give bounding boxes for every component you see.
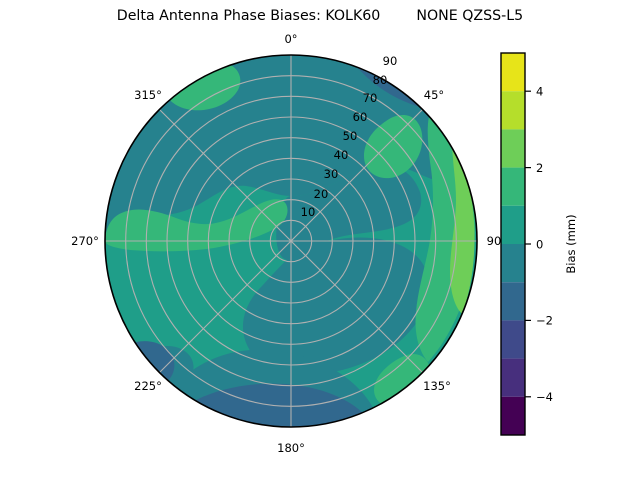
- colorbar-tick-label-2: 2: [536, 161, 543, 175]
- colorbar-tick-label-4: 4: [536, 85, 543, 99]
- radial-label-60: 60: [353, 110, 368, 124]
- colorbar-band-3to4: [501, 91, 525, 129]
- colorbar-band-4to5: [501, 53, 525, 91]
- colorbar-tick-label-neg4: −4: [536, 390, 553, 404]
- polar-plot-canvas: 0° 45° 90 135° 180° 225° 270° 315° 10 20…: [0, 0, 640, 480]
- radial-label-40: 40: [334, 148, 349, 162]
- radial-label-10: 10: [301, 205, 316, 219]
- azimuth-label-315: 315°: [134, 88, 162, 102]
- azimuth-label-180: 180°: [277, 441, 305, 455]
- azimuth-label-45: 45°: [424, 88, 444, 102]
- radial-label-20: 20: [314, 187, 329, 201]
- radial-label-30: 30: [324, 167, 339, 181]
- radial-label-50: 50: [343, 129, 358, 143]
- polar-grid-spokes: [105, 55, 477, 427]
- radial-label-70: 70: [363, 91, 378, 105]
- colorbar-axis-label: Bias (mm): [564, 214, 578, 273]
- colorbar-band-neg2toneg1: [501, 282, 525, 320]
- colorbar: 4 2 0 −2 −4 Bias (mm): [501, 53, 578, 435]
- colorbar-tick-label-0: 0: [536, 237, 543, 251]
- azimuth-label-0: 0°: [284, 32, 297, 46]
- matplotlib-figure: Delta Antenna Phase Biases: KOLK60 NONE …: [0, 0, 640, 480]
- azimuth-label-270: 270°: [71, 234, 99, 248]
- colorbar-band-2to3: [501, 129, 525, 167]
- colorbar-band-neg5toneg4: [501, 397, 525, 435]
- radial-label-90: 90: [383, 54, 398, 68]
- azimuth-label-90: 90: [487, 234, 502, 248]
- colorbar-band-neg4toneg3: [501, 359, 525, 397]
- colorbar-band-neg3toneg2: [501, 320, 525, 358]
- colorbar-band-neg1to0: [501, 244, 525, 282]
- colorbar-tick-label-neg2: −2: [536, 314, 553, 328]
- colorbar-band-0to1: [501, 206, 525, 244]
- azimuth-label-225: 225°: [134, 379, 162, 393]
- radial-label-80: 80: [373, 73, 388, 87]
- colorbar-band-1to2: [501, 168, 525, 206]
- azimuth-label-135: 135°: [423, 379, 451, 393]
- colorbar-ticks: [525, 91, 531, 397]
